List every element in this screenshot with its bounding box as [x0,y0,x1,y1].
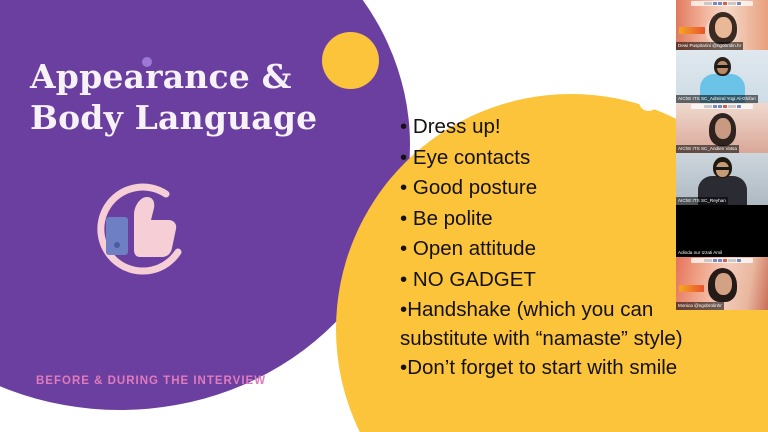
zoom-toolbar[interactable] [691,1,753,6]
list-item-text: Eye contacts [413,146,530,169]
list-item-text: NO GADGET [413,268,536,291]
title-line-1: Appearance & [30,56,360,97]
participant-face [715,17,732,38]
bullet-marker: • [400,265,407,296]
participant-name: AIChE ITS SC_Reyhan [676,197,728,205]
presentation-slide: Appearance & Body Language BEFORE & DURI… [0,0,768,432]
participant-face [716,162,729,177]
participant-face [717,61,728,74]
participant-tile[interactable]: AIChE ITS SC_Andien Vatsa [676,103,768,153]
participant-name: Adinda nur Izzati Amil [676,249,724,257]
bullet-marker: • [400,143,407,174]
participant-tile[interactable]: Dewi Puspitarini @ngobrolin.hr [676,0,768,50]
participant-face [715,273,732,295]
page-title: Appearance & Body Language [30,56,360,139]
list-item: •Don’t forget to start with smile [400,353,745,382]
zoom-toolbar[interactable] [691,258,753,263]
bullet-marker: • [400,173,407,204]
list-item-text: Good posture [413,176,537,199]
glasses-icon [716,65,729,68]
bullet-marker: • [400,112,407,143]
footer-caption: BEFORE & DURING THE INTERVIEW [36,375,266,387]
participant-tile[interactable]: Adinda nur Izzati Amil [676,205,768,257]
list-item-text: Open attitude [413,237,536,260]
participant-tile[interactable]: AIChE ITS SC_Admiral Yogi Al-Ghifari [676,50,768,103]
participant-tile[interactable]: Monica @ngobrolinhr [676,257,768,310]
thumbs-up-icon [78,180,196,285]
glasses-icon [715,167,730,170]
list-item-text: Dress up! [413,115,501,138]
white-accent-dot [639,92,658,111]
list-item-text: Don’t forget to start with smile [407,356,677,379]
participant-name: Dewi Puspitarini @ngobrolin.hr [676,42,743,50]
list-item-text: Handshake (which you can substitute with… [400,298,683,350]
zoom-toolbar[interactable] [691,104,753,109]
bullet-marker: • [400,234,407,265]
overlay-banner [679,285,704,292]
list-item-text: Be polite [413,207,493,230]
participant-name: Monica @ngobrolinhr [676,302,724,310]
video-participant-strip[interactable]: Dewi Puspitarini @ngobrolin.hr AIChE ITS… [676,0,768,310]
participant-name: AIChE ITS SC_Admiral Yogi Al-Ghifari [676,95,758,103]
bullet-marker: • [400,204,407,235]
participant-tile[interactable]: AIChE ITS SC_Reyhan [676,153,768,205]
title-line-2: Body Language [30,97,360,138]
overlay-banner [679,27,705,34]
participant-face [715,118,731,139]
participant-name: AIChE ITS SC_Andien Vatsa [676,145,739,153]
